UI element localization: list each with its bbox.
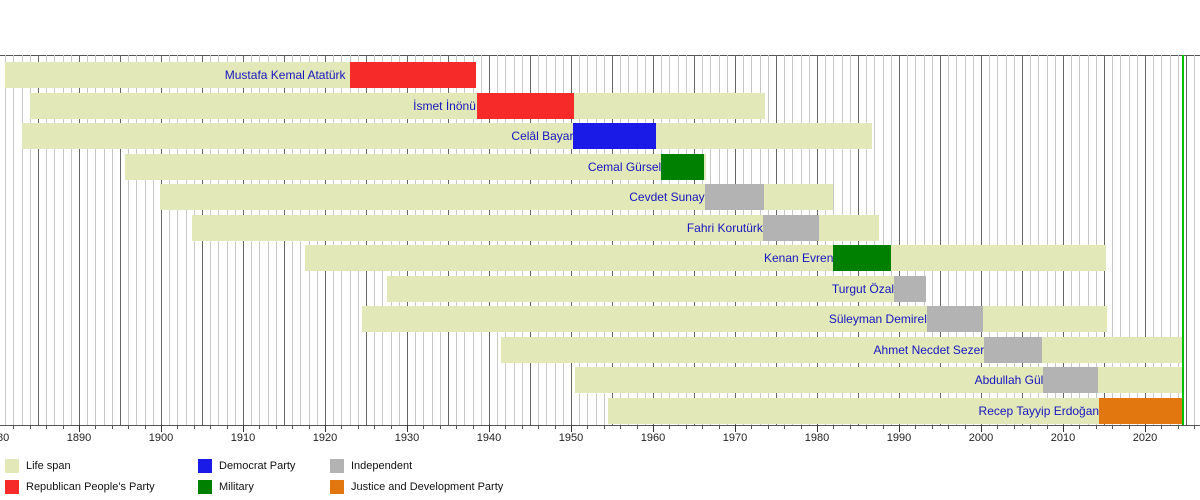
axis-tick bbox=[259, 425, 260, 429]
legend-swatch-icon bbox=[5, 459, 19, 473]
axis-tick bbox=[505, 425, 506, 429]
axis-tick bbox=[817, 425, 818, 432]
axis-tick bbox=[1079, 425, 1080, 429]
axis-tick bbox=[686, 425, 687, 429]
legend-item[interactable]: Independent bbox=[330, 458, 412, 473]
row-label: Süleyman Demirel bbox=[0, 306, 934, 332]
axis-tick bbox=[1014, 425, 1015, 429]
axis-tick bbox=[801, 425, 802, 429]
axis-tick bbox=[161, 425, 162, 432]
row-label: Kenan Evren bbox=[0, 245, 840, 271]
legend-swatch-icon bbox=[198, 459, 212, 473]
axis-tick-label: 1900 bbox=[149, 432, 173, 444]
axis-tick bbox=[702, 425, 703, 429]
axis-tick bbox=[1194, 425, 1195, 429]
row-label: Ahmet Necdet Sezer bbox=[0, 337, 991, 363]
row-label: Cevdet Sunay bbox=[0, 184, 712, 210]
axis-tick bbox=[13, 425, 14, 429]
axis-tick bbox=[325, 425, 326, 432]
timeline-row[interactable]: Kenan Evren bbox=[0, 245, 1200, 271]
legend-label: Democrat Party bbox=[219, 460, 295, 472]
axis-tick bbox=[407, 425, 408, 432]
axis-tick bbox=[1063, 425, 1064, 432]
axis-tick bbox=[46, 425, 47, 429]
axis-tick bbox=[669, 425, 670, 429]
term-bar[interactable] bbox=[984, 337, 1041, 363]
row-label: Mustafa Kemal Atatürk bbox=[0, 62, 353, 88]
axis-tick bbox=[210, 425, 211, 429]
axis-tick bbox=[358, 425, 359, 429]
legend-label: Military bbox=[219, 481, 254, 493]
axis-tick-label: 2020 bbox=[1133, 432, 1157, 444]
axis-tick bbox=[440, 425, 441, 429]
axis-tick bbox=[341, 425, 342, 429]
term-bar[interactable] bbox=[763, 215, 819, 241]
axis-tick bbox=[1161, 425, 1162, 429]
axis-tick bbox=[128, 425, 129, 429]
term-bar[interactable] bbox=[1043, 367, 1098, 393]
x-axis-tick-labels: 1880189019001910192019301940195019601970… bbox=[0, 432, 1200, 448]
term-bar[interactable] bbox=[705, 184, 764, 210]
legend-item[interactable]: Military bbox=[198, 479, 254, 494]
axis-tick bbox=[95, 425, 96, 429]
timeline-chart: Mustafa Kemal Atatürkİsmet İnönüCelâl Ba… bbox=[0, 0, 1200, 500]
axis-tick bbox=[555, 425, 556, 429]
legend-swatch-icon bbox=[198, 480, 212, 494]
axis-tick bbox=[30, 425, 31, 429]
axis-tick bbox=[145, 425, 146, 429]
axis-tick-label: 1950 bbox=[559, 432, 583, 444]
axis-tick-label: 1940 bbox=[477, 432, 501, 444]
axis-tick bbox=[620, 425, 621, 429]
axis-tick bbox=[112, 425, 113, 429]
timeline-row[interactable]: Cemal Gürsel bbox=[0, 154, 1200, 180]
legend-swatch-icon bbox=[5, 480, 19, 494]
axis-tick bbox=[784, 425, 785, 429]
axis-tick bbox=[489, 425, 490, 432]
axis-tick bbox=[473, 425, 474, 429]
axis-tick bbox=[227, 425, 228, 429]
axis-tick-label: 2000 bbox=[969, 432, 993, 444]
timeline-row[interactable]: Abdullah Gül bbox=[0, 367, 1200, 393]
timeline-row[interactable]: Celâl Bayar bbox=[0, 123, 1200, 149]
legend-label: Justice and Development Party bbox=[351, 481, 503, 493]
axis-tick bbox=[423, 425, 424, 429]
axis-tick bbox=[850, 425, 851, 429]
row-label: Recep Tayyip Erdoğan bbox=[0, 398, 1106, 424]
axis-tick-label: 1890 bbox=[67, 432, 91, 444]
axis-tick bbox=[899, 425, 900, 432]
axis-tick bbox=[538, 425, 539, 429]
axis-tick bbox=[1047, 425, 1048, 429]
legend-swatch-icon bbox=[330, 459, 344, 473]
axis-tick bbox=[751, 425, 752, 429]
axis-tick bbox=[1178, 425, 1179, 429]
axis-tick bbox=[391, 425, 392, 429]
axis-tick bbox=[637, 425, 638, 429]
legend-swatch-icon bbox=[330, 480, 344, 494]
term-bar[interactable] bbox=[927, 306, 984, 332]
legend-label: Republican People's Party bbox=[26, 481, 155, 493]
timeline-row[interactable]: İsmet İnönü bbox=[0, 93, 1200, 119]
axis-tick bbox=[194, 425, 195, 429]
plot-area: Mustafa Kemal Atatürkİsmet İnönüCelâl Ba… bbox=[0, 55, 1200, 425]
axis-tick-label: 1930 bbox=[395, 432, 419, 444]
axis-tick bbox=[735, 425, 736, 432]
axis-tick bbox=[833, 425, 834, 429]
legend-label: Independent bbox=[351, 460, 412, 472]
legend-item[interactable]: Life span bbox=[5, 458, 71, 473]
axis-tick bbox=[292, 425, 293, 429]
axis-tick-label: 1910 bbox=[231, 432, 255, 444]
axis-tick bbox=[1145, 425, 1146, 432]
axis-tick bbox=[374, 425, 375, 429]
axis-tick bbox=[1129, 425, 1130, 429]
axis-tick bbox=[587, 425, 588, 429]
timeline-row[interactable]: Cevdet Sunay bbox=[0, 184, 1200, 210]
row-label: Fahri Korutürk bbox=[0, 215, 770, 241]
timeline-row[interactable]: Fahri Korutürk bbox=[0, 215, 1200, 241]
term-bar[interactable] bbox=[573, 123, 656, 149]
axis-tick bbox=[653, 425, 654, 432]
row-label: Turgut Özal bbox=[0, 276, 901, 302]
axis-tick bbox=[571, 425, 572, 432]
axis-tick bbox=[932, 425, 933, 429]
axis-tick bbox=[276, 425, 277, 429]
axis-tick-label: 1980 bbox=[805, 432, 829, 444]
row-label: İsmet İnönü bbox=[0, 93, 483, 119]
term-bar[interactable] bbox=[477, 93, 575, 119]
axis-tick bbox=[948, 425, 949, 429]
axis-tick bbox=[1112, 425, 1113, 429]
timeline-row[interactable]: Süleyman Demirel bbox=[0, 306, 1200, 332]
timeline-row[interactable]: Recep Tayyip Erdoğan bbox=[0, 398, 1200, 424]
row-label: Celâl Bayar bbox=[0, 123, 580, 149]
row-label: Cemal Gürsel bbox=[0, 154, 668, 180]
axis-tick bbox=[1030, 425, 1031, 429]
axis-tick bbox=[177, 425, 178, 429]
axis-tick bbox=[243, 425, 244, 432]
axis-tick bbox=[79, 425, 80, 432]
legend-item[interactable]: Republican People's Party bbox=[5, 479, 155, 494]
timeline-row[interactable]: Ahmet Necdet Sezer bbox=[0, 337, 1200, 363]
axis-tick bbox=[719, 425, 720, 429]
chart-legend: Life spanRepublican People's PartyDemocr… bbox=[0, 458, 1200, 500]
row-label: Abdullah Gül bbox=[0, 367, 1050, 393]
term-bar[interactable] bbox=[1099, 398, 1182, 424]
axis-tick bbox=[965, 425, 966, 429]
legend-item[interactable]: Justice and Development Party bbox=[330, 479, 503, 494]
axis-tick bbox=[1096, 425, 1097, 429]
axis-tick-label: 1970 bbox=[723, 432, 747, 444]
timeline-row[interactable]: Mustafa Kemal Atatürk bbox=[0, 62, 1200, 88]
axis-tick-label: 1990 bbox=[887, 432, 911, 444]
timeline-row[interactable]: Turgut Özal bbox=[0, 276, 1200, 302]
legend-label: Life span bbox=[26, 460, 71, 472]
legend-item[interactable]: Democrat Party bbox=[198, 458, 295, 473]
axis-tick bbox=[456, 425, 457, 429]
axis-tick-label: 1920 bbox=[313, 432, 337, 444]
term-bar[interactable] bbox=[350, 62, 476, 88]
axis-tick bbox=[309, 425, 310, 429]
current-year-marker bbox=[1182, 55, 1184, 425]
axis-tick bbox=[768, 425, 769, 429]
axis-tick bbox=[915, 425, 916, 429]
axis-tick bbox=[997, 425, 998, 429]
axis-tick bbox=[981, 425, 982, 432]
term-bar[interactable] bbox=[833, 245, 890, 271]
axis-tick bbox=[522, 425, 523, 429]
axis-tick-label: 1880 bbox=[0, 432, 9, 444]
axis-tick bbox=[604, 425, 605, 429]
axis-tick bbox=[866, 425, 867, 429]
axis-tick-label: 1960 bbox=[641, 432, 665, 444]
axis-tick-label: 2010 bbox=[1051, 432, 1075, 444]
axis-tick bbox=[883, 425, 884, 429]
axis-tick bbox=[63, 425, 64, 429]
